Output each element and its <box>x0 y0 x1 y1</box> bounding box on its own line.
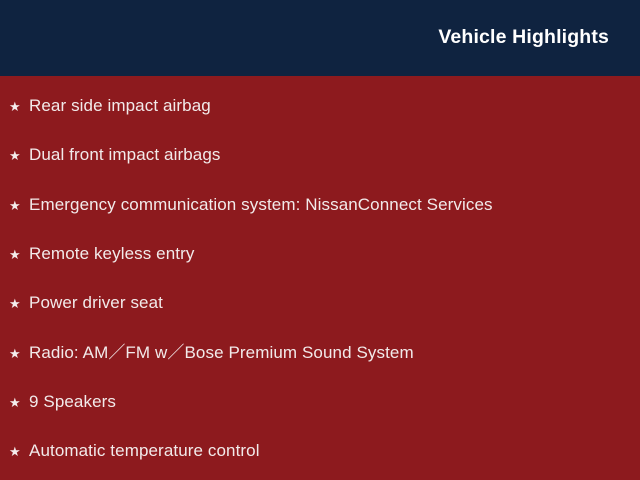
slide-header: Vehicle Highlights <box>0 0 640 76</box>
list-item-label: 9 Speakers <box>29 393 116 412</box>
list-item: ★9 Speakers <box>9 390 640 414</box>
star-icon: ★ <box>9 199 29 212</box>
star-icon: ★ <box>9 396 29 409</box>
list-item-label: Remote keyless entry <box>29 245 194 264</box>
list-item-label: Emergency communication system: NissanCo… <box>29 196 493 215</box>
star-icon: ★ <box>9 297 29 310</box>
list-item: ★Automatic temperature control <box>9 440 640 464</box>
list-item: ★Rear side impact airbag <box>9 95 640 119</box>
list-item-label: Power driver seat <box>29 294 163 313</box>
list-item: ★Dual front impact airbags <box>9 144 640 168</box>
list-item: ★Radio: AM／FM w／Bose Premium Sound Syste… <box>9 341 640 365</box>
star-icon: ★ <box>9 100 29 113</box>
list-item: ★Emergency communication system: NissanC… <box>9 193 640 217</box>
star-icon: ★ <box>9 347 29 360</box>
list-item: ★Power driver seat <box>9 292 640 316</box>
vehicle-highlights-slide: Vehicle Highlights ★Rear side impact air… <box>0 0 640 480</box>
list-item: ★Remote keyless entry <box>9 242 640 266</box>
star-icon: ★ <box>9 445 29 458</box>
list-item-label: Dual front impact airbags <box>29 146 220 165</box>
list-item-label: Automatic temperature control <box>29 442 260 461</box>
slide-body: ★Rear side impact airbag★Dual front impa… <box>0 76 640 480</box>
list-item-label: Radio: AM／FM w／Bose Premium Sound System <box>29 344 414 363</box>
star-icon: ★ <box>9 248 29 261</box>
star-icon: ★ <box>9 149 29 162</box>
page-title: Vehicle Highlights <box>438 28 609 48</box>
list-item-label: Rear side impact airbag <box>29 97 211 116</box>
